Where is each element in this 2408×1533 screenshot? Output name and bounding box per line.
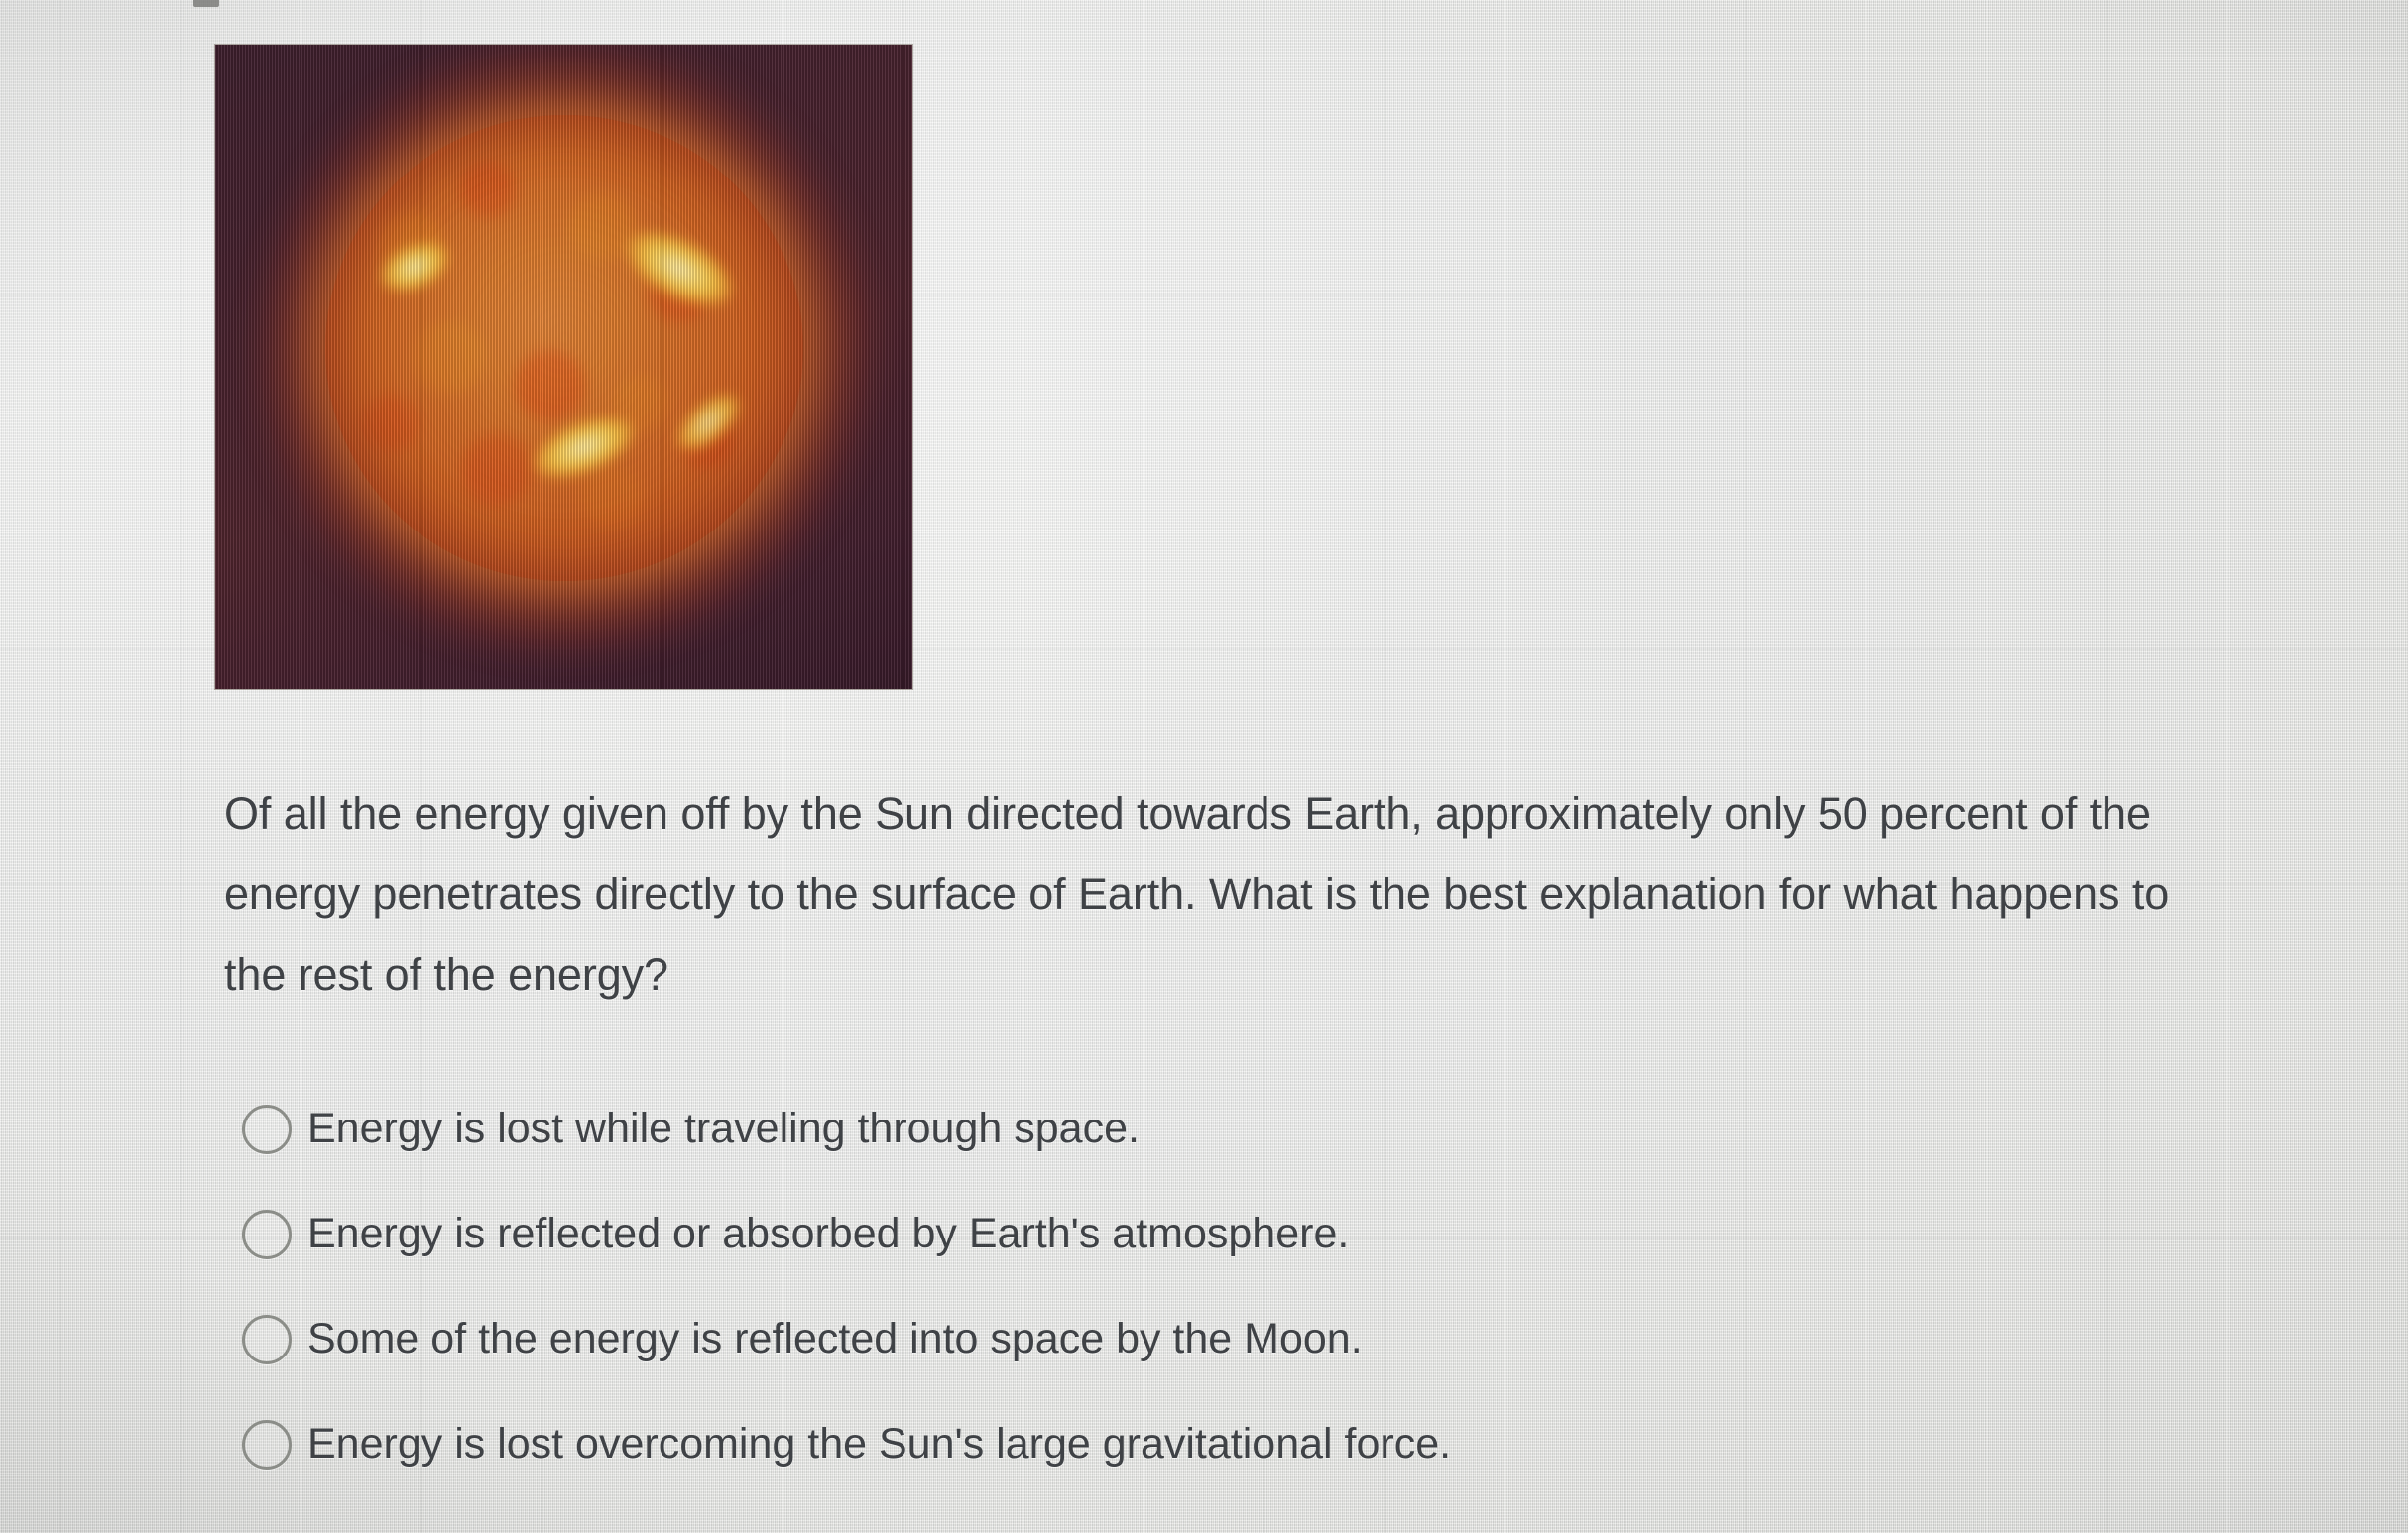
answer-option-label-c: Some of the energy is reflected into spa… [307,1316,1363,1362]
question-text: Of all the energy given off by the Sun d… [224,773,2183,1014]
sun-disk [325,115,803,581]
sun-limb-darkening [325,115,803,581]
answer-option-a[interactable]: Energy is lost while traveling through s… [242,1077,2226,1182]
clipped-ui-element [193,0,219,7]
radio-button-icon-a[interactable] [242,1105,292,1154]
radio-button-icon-b[interactable] [242,1210,292,1259]
answer-option-b[interactable]: Energy is reflected or absorbed by Earth… [242,1182,2226,1287]
answer-option-label-b: Energy is reflected or absorbed by Earth… [307,1211,1349,1257]
answer-option-d[interactable]: Energy is lost overcoming the Sun's larg… [242,1392,2226,1497]
answer-option-label-d: Energy is lost overcoming the Sun's larg… [307,1421,1451,1468]
radio-button-icon-d[interactable] [242,1420,292,1470]
sun-image [215,45,912,689]
answer-option-c[interactable]: Some of the energy is reflected into spa… [242,1287,2226,1392]
radio-button-icon-c[interactable] [242,1315,292,1364]
answer-options-list: Energy is lost while traveling through s… [242,1077,2226,1497]
answer-option-label-a: Energy is lost while traveling through s… [307,1106,1140,1152]
screen-photo: Of all the energy given off by the Sun d… [0,0,2408,1533]
